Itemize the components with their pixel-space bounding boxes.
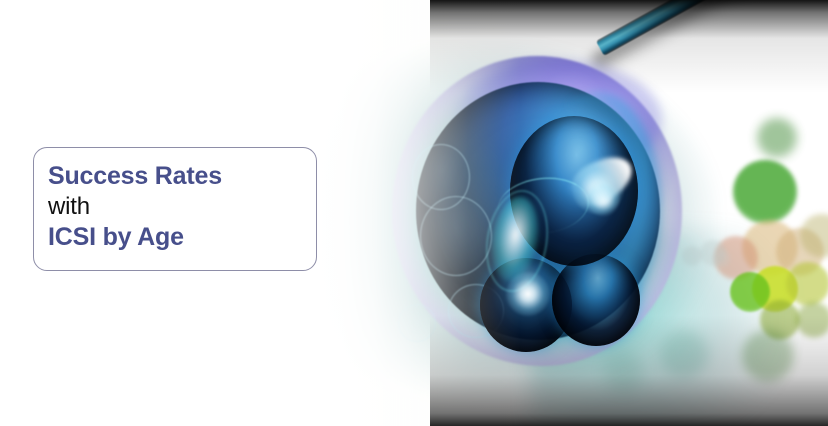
title-line-2: with (48, 193, 316, 221)
vertical-vignette (430, 0, 828, 426)
title-line-1: Success Rates (48, 162, 316, 191)
icsi-success-rates-banner: Success Rates with ICSI by Age (0, 0, 828, 426)
title-line-3: ICSI by Age (48, 223, 316, 252)
success-rates-title-card: Success Rates with ICSI by Age (33, 147, 317, 271)
